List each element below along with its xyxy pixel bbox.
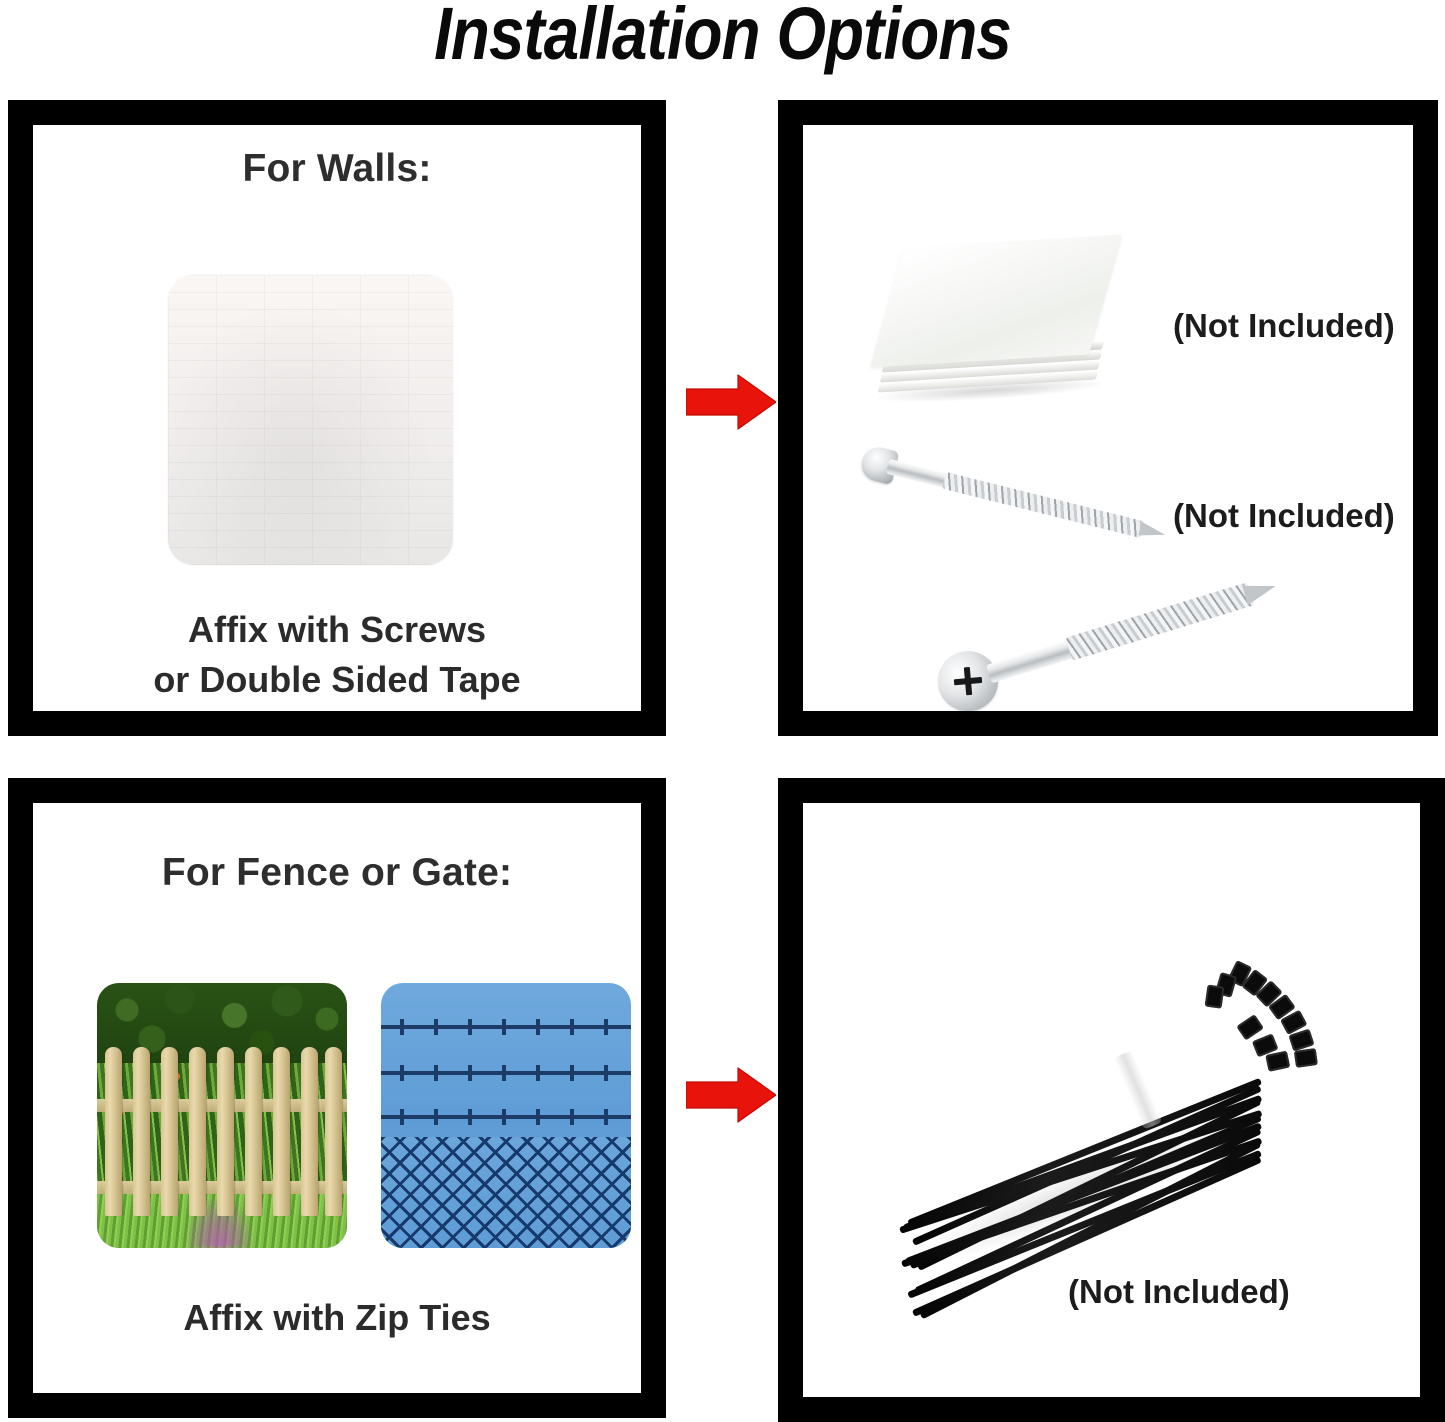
chain-link-fence-image bbox=[381, 983, 631, 1248]
wood-screw-upper-image bbox=[849, 426, 1191, 593]
for-fence-or-gate-heading: For Fence or Gate: bbox=[33, 851, 641, 895]
red-arrow-top-icon bbox=[686, 373, 776, 431]
tape-not-included-label: (Not Included) bbox=[1173, 307, 1395, 345]
panel-wall-hardware-content: (Not Included) (Not Included) bbox=[803, 125, 1413, 711]
panel-for-fence-or-gate-content: For Fence or Gate: bbox=[33, 803, 641, 1393]
for-walls-heading: For Walls: bbox=[33, 147, 641, 191]
panel-zip-ties: (Not Included) bbox=[778, 778, 1445, 1422]
affix-with-screws-caption-line2: or Double Sided Tape bbox=[33, 655, 641, 705]
panel-for-walls-content: For Walls: Affix with Screws or Double S… bbox=[33, 125, 641, 711]
white-brick-wall-image bbox=[168, 275, 453, 565]
panel-wall-hardware: (Not Included) (Not Included) bbox=[778, 100, 1438, 736]
screws-not-included-label: (Not Included) bbox=[1173, 497, 1395, 535]
affix-with-zip-ties-caption: Affix with Zip Ties bbox=[33, 1293, 641, 1343]
panel-for-fence-or-gate: For Fence or Gate: bbox=[8, 778, 666, 1418]
phillips-cross-icon bbox=[953, 666, 983, 696]
zip-ties-not-included-label: (Not Included) bbox=[1068, 1273, 1290, 1311]
panel-for-walls: For Walls: Affix with Screws or Double S… bbox=[8, 100, 666, 736]
wooden-picket-fence-image bbox=[97, 983, 347, 1248]
double-sided-tape-stack-image bbox=[871, 235, 1121, 410]
affix-with-screws-caption-line1: Affix with Screws bbox=[33, 605, 641, 655]
red-arrow-bottom-icon bbox=[686, 1066, 776, 1124]
page-title: Installation Options bbox=[101, 0, 1344, 74]
panel-zip-ties-content: (Not Included) bbox=[803, 803, 1420, 1397]
zip-tie-bundle-image bbox=[843, 913, 1343, 1333]
